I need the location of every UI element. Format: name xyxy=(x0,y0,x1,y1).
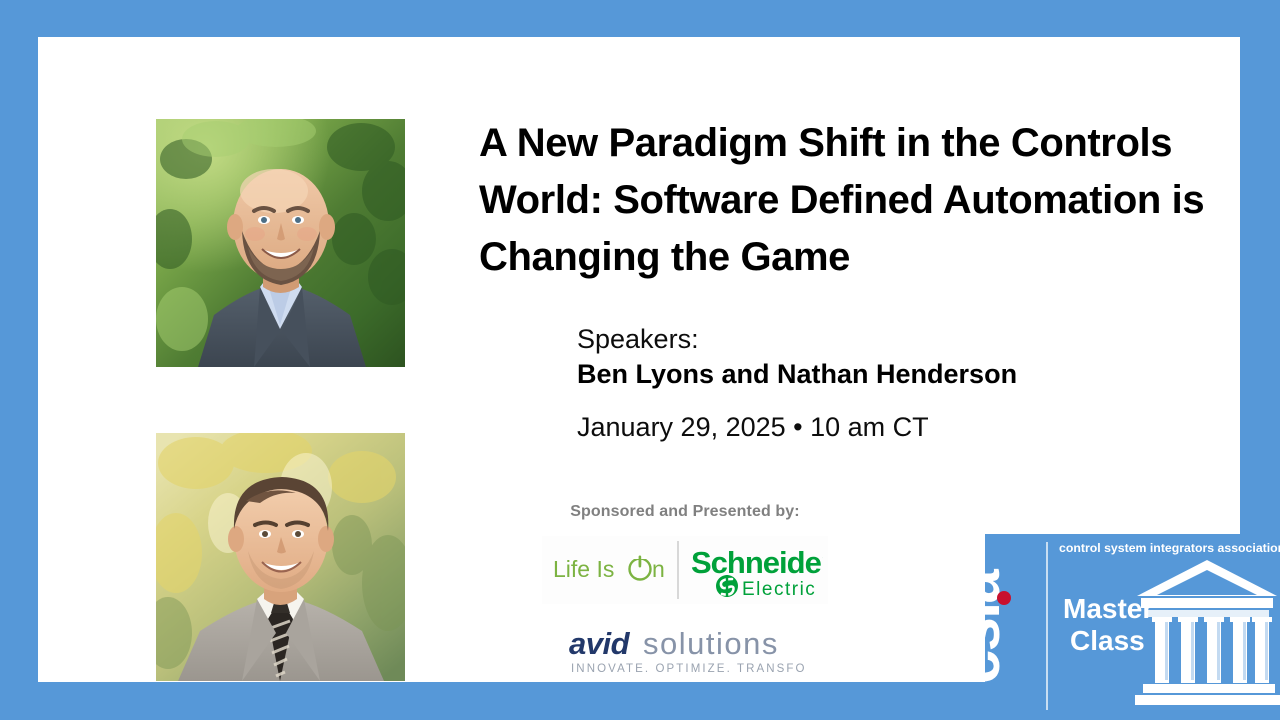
schneider-tagline-text: Life Is xyxy=(553,556,614,582)
csia-association-text: control system integrators association xyxy=(1059,541,1280,555)
csia-badge-art: csia control system integrators associat… xyxy=(985,534,1280,720)
event-datetime: January 29, 2025 • 10 am CT xyxy=(577,411,1237,443)
headshot-1-image xyxy=(156,119,405,367)
speaker-headshot-ben-lyons xyxy=(156,119,405,367)
speakers-block: Speakers: Ben Lyons and Nathan Henderson… xyxy=(577,322,1237,443)
speakers-names: Ben Lyons and Nathan Henderson xyxy=(577,357,1237,392)
schneider-tagline-suffix: n xyxy=(652,556,665,582)
sponsor-block: Sponsored and Presented by: Life Is n Sc… xyxy=(480,503,890,679)
avid-solutions-logo: avid solutions INNOVATE. OPTIMIZE. TRANS… xyxy=(542,621,828,679)
csia-wordmark-text: csia xyxy=(985,569,1013,684)
csia-program-line-2: Class xyxy=(1070,625,1145,656)
schneider-electric-logo: Life Is n Schneider xyxy=(542,536,828,604)
avid-tagline: INNOVATE. OPTIMIZE. TRANSFORM. xyxy=(571,663,805,675)
csia-wordmark: csia xyxy=(985,569,1013,684)
schneider-wordmark: Schneider xyxy=(691,545,823,580)
csia-dot-icon xyxy=(997,591,1011,605)
headshot-2-image xyxy=(156,433,405,681)
avid-wordmark: avid xyxy=(569,626,631,661)
speakers-label: Speakers: xyxy=(577,322,1237,357)
schneider-s-mark-icon xyxy=(716,575,738,597)
avid-solutions-logo-art: avid solutions INNOVATE. OPTIMIZE. TRANS… xyxy=(565,623,805,677)
title-block: A New Paradigm Shift in the Controls Wor… xyxy=(479,115,1249,285)
csia-program-line-1: Master xyxy=(1063,593,1153,624)
page-title: A New Paradigm Shift in the Controls Wor… xyxy=(479,115,1249,285)
sponsor-heading: Sponsored and Presented by: xyxy=(480,503,890,521)
power-symbol-icon xyxy=(630,555,651,580)
csia-master-class-badge: csia control system integrators associat… xyxy=(985,534,1280,720)
speaker-headshot-nathan-henderson xyxy=(156,433,405,681)
avid-solutions-wordmark: solutions xyxy=(643,626,779,661)
schneider-electric-logo-art: Life Is n Schneider xyxy=(547,539,823,601)
schneider-sub-wordmark: Electric xyxy=(742,579,816,600)
